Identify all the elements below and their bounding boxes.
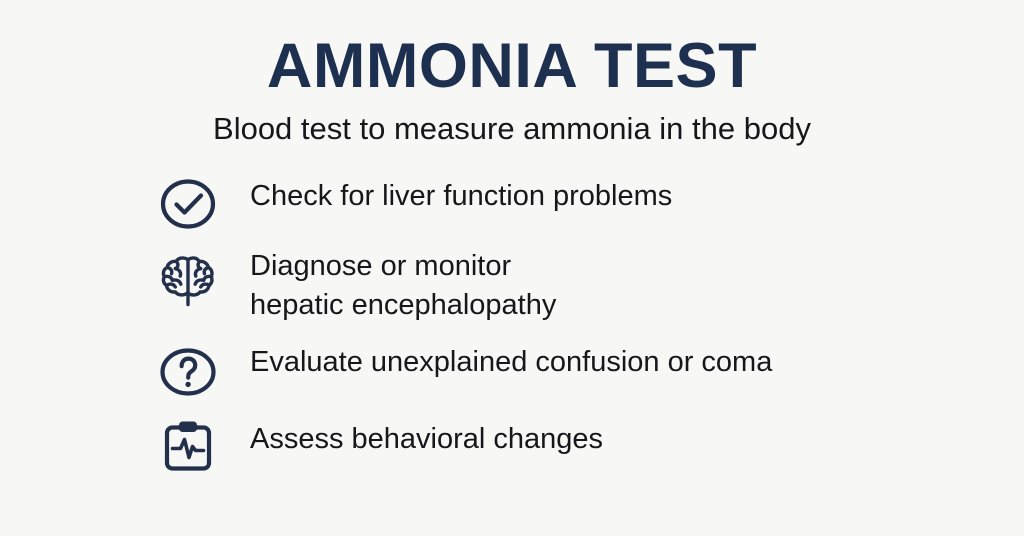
clipboard-pulse-icon — [152, 417, 224, 475]
page-subtitle: Blood test to measure ammonia in the bod… — [0, 112, 1024, 146]
list-item: Assess behavioral changes — [152, 415, 982, 477]
list-item: Evaluate unexplained confusion or coma — [152, 339, 982, 401]
list-item: Diagnose or monitor hepatic encephalopat… — [152, 246, 982, 325]
infographic-slide: AMMONIA TEST Blood test to measure ammon… — [0, 0, 1024, 536]
list-item-label: Assess behavioral changes — [224, 415, 982, 459]
question-circle-icon — [152, 343, 224, 401]
list-item-label: Diagnose or monitor hepatic encephalopat… — [224, 246, 982, 325]
list-item: Check for liver function problems — [152, 172, 982, 234]
check-circle-icon — [152, 174, 224, 232]
bullet-list: Check for liver function problems — [152, 172, 982, 477]
list-item-label: Evaluate unexplained confusion or coma — [224, 339, 982, 382]
brain-icon — [152, 252, 224, 310]
header: AMMONIA TEST Blood test to measure ammon… — [0, 34, 1024, 146]
list-item-label: Check for liver function problems — [224, 172, 982, 216]
page-title: AMMONIA TEST — [0, 34, 1024, 98]
